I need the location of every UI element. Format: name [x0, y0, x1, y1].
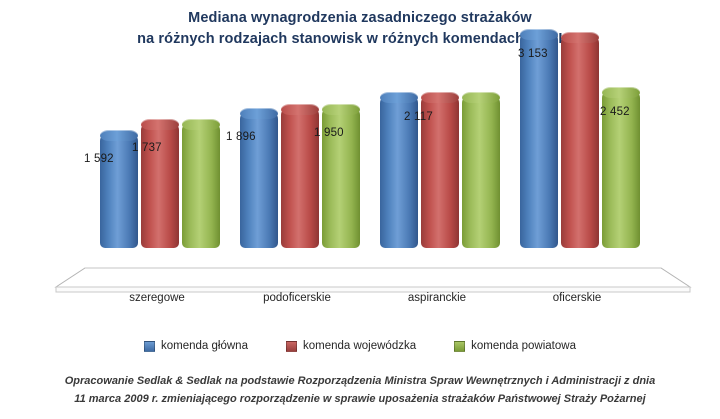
bar-group-szeregowe — [96, 55, 224, 305]
legend-swatch-icon-komenda-wojewodzka — [286, 341, 297, 352]
bar-oficerskie-komenda-glowna[interactable] — [520, 33, 558, 248]
chart-title-line-1: Mediana wynagrodzenia zasadniczego straż… — [188, 10, 532, 26]
legend-label-komenda-wojewodzka: komenda wojewódzka — [303, 340, 416, 352]
bar-group-podoficerskie — [236, 55, 364, 305]
value-label-1737: 1 737 — [132, 142, 162, 154]
chart-bars-layer — [0, 55, 720, 305]
value-label-1896: 1 896 — [226, 131, 256, 143]
chart-source-note: Opracowanie Sedlak & Sedlak na podstawie… — [0, 372, 720, 408]
bar-szeregowe-komenda-powiatowa[interactable] — [182, 123, 220, 248]
bar-group-aspiranckie — [376, 55, 504, 305]
value-label-2117: 2 117 — [404, 111, 433, 123]
legend-swatch-icon-komenda-powiatowa — [454, 341, 465, 352]
category-label-oficerskie: oficerskie — [512, 292, 642, 304]
chart-title-line-2: na różnych rodzajach stanowisk w różnych… — [0, 29, 720, 50]
category-label-podoficerskie: podoficerskie — [232, 292, 362, 304]
legend-item-komenda-powiatowa[interactable]: komenda powiatowa — [454, 340, 576, 352]
value-label-2452: 2 452 — [600, 106, 630, 118]
value-label-1592: 1 592 — [84, 153, 114, 165]
legend-swatch-icon-komenda-glowna — [144, 341, 155, 352]
source-note-line-1: Opracowanie Sedlak & Sedlak na podstawie… — [0, 372, 720, 390]
category-axis-labels: szeregowe podoficerskie aspiranckie ofic… — [0, 292, 720, 312]
legend-item-komenda-glowna[interactable]: komenda główna — [144, 340, 248, 352]
chart-title: Mediana wynagrodzenia zasadniczego straż… — [0, 8, 720, 50]
legend-label-komenda-powiatowa: komenda powiatowa — [471, 340, 576, 352]
bar-group-oficerskie — [516, 55, 644, 305]
value-label-1950: 1 950 — [314, 127, 344, 139]
bar-oficerskie-komenda-wojewodzka[interactable] — [561, 36, 599, 248]
legend-label-komenda-glowna: komenda główna — [161, 340, 248, 352]
category-label-szeregowe: szeregowe — [92, 292, 222, 304]
category-label-aspiranckie: aspiranckie — [372, 292, 502, 304]
chart-plot-area: 1 592 1 737 1 896 1 950 2 117 3 153 2 45… — [0, 55, 720, 305]
legend-item-komenda-wojewodzka[interactable]: komenda wojewódzka — [286, 340, 416, 352]
source-note-line-2: 11 marca 2009 r. zmieniającego rozporząd… — [0, 390, 720, 408]
value-label-3153: 3 153 — [518, 48, 548, 60]
chart-legend: komenda główna komenda wojewódzka komend… — [0, 340, 720, 352]
bar-aspiranckie-komenda-powiatowa[interactable] — [462, 96, 500, 248]
